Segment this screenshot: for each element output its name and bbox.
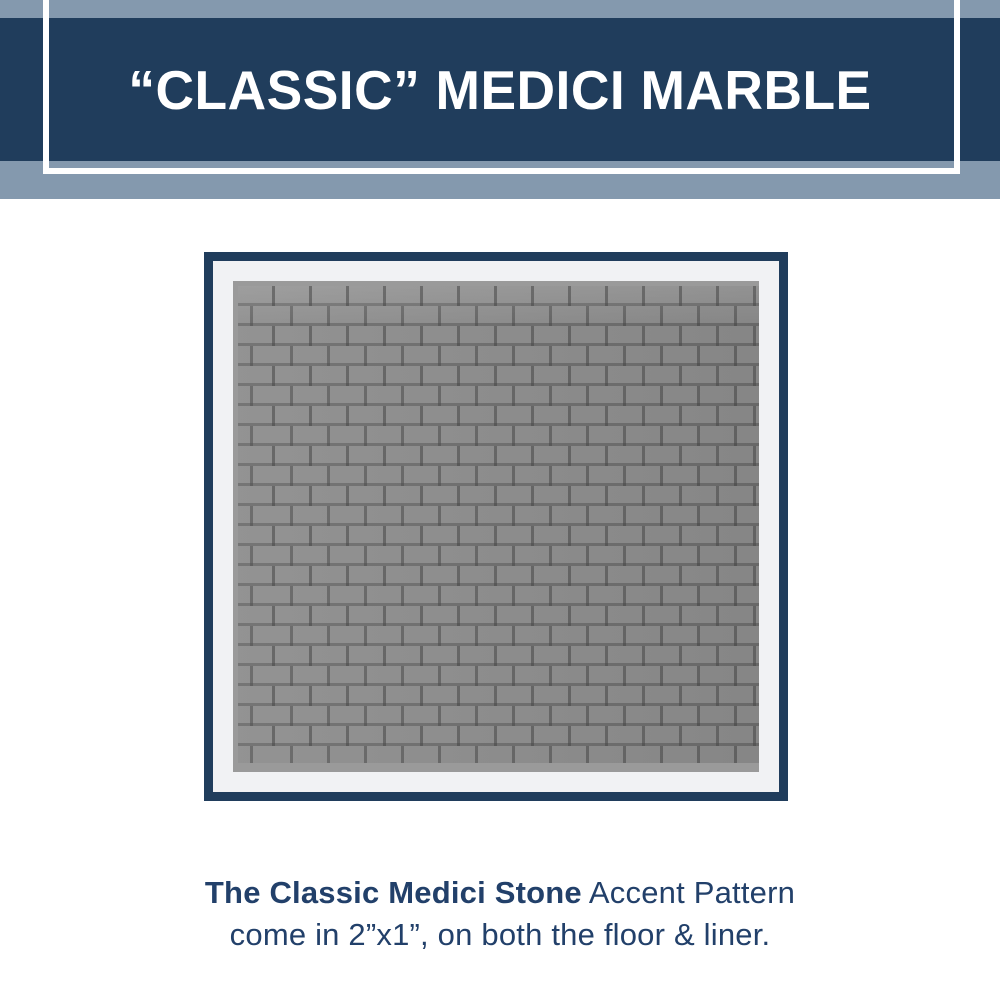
tile-swatch-field bbox=[233, 281, 759, 772]
header-banner: “CLASSIC” MEDICI MARBLE bbox=[0, 0, 1000, 200]
brick-sheen-overlay bbox=[238, 286, 759, 763]
caption-line-1: The Classic Medici Stone Accent Pattern bbox=[0, 872, 1000, 914]
brick-pattern-image bbox=[238, 286, 759, 763]
brick-offset-rows bbox=[238, 286, 759, 763]
caption-line-1-rest: Accent Pattern bbox=[582, 875, 795, 910]
page-title: “CLASSIC” MEDICI MARBLE bbox=[15, 18, 985, 161]
tile-swatch-mat bbox=[213, 261, 779, 792]
tile-swatch-frame bbox=[204, 252, 788, 801]
caption-line-1-bold: The Classic Medici Stone bbox=[205, 875, 582, 910]
caption-line-2: come in 2”x1”, on both the floor & liner… bbox=[0, 914, 1000, 956]
caption: The Classic Medici Stone Accent Pattern … bbox=[0, 872, 1000, 956]
